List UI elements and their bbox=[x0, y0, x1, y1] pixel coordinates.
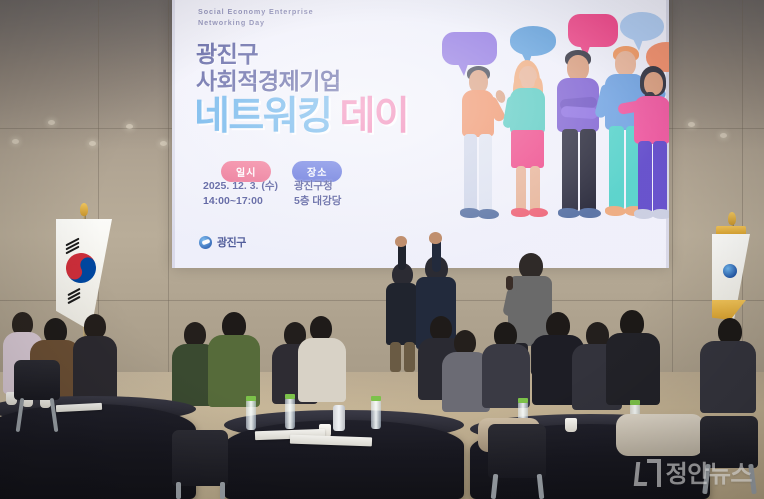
slide-place-info: 광진구청 5층 대강당 bbox=[294, 179, 341, 209]
bottle-cap bbox=[285, 394, 295, 399]
bubble-magenta bbox=[568, 14, 618, 47]
slide-place-line1: 광진구청 bbox=[294, 179, 341, 194]
bottle-cap bbox=[246, 396, 256, 401]
slide-eyebrow: Social Economy Enterprise Networking Day bbox=[198, 6, 314, 28]
water-bottle bbox=[285, 398, 295, 429]
flag-finial bbox=[728, 212, 736, 225]
tumbler bbox=[333, 405, 345, 431]
coat-on-chair bbox=[616, 414, 704, 456]
bubble-purple bbox=[442, 32, 497, 65]
slide-illustration bbox=[440, 4, 668, 262]
ceiling-light-reflection bbox=[160, 141, 167, 146]
ceiling-light-reflection bbox=[48, 120, 55, 125]
water-bottle bbox=[371, 400, 381, 429]
bubble-lightblue bbox=[620, 12, 664, 41]
slide-title-line2: 사회적경제기업 bbox=[196, 62, 341, 96]
water-bottle bbox=[246, 400, 256, 430]
screen-edge bbox=[172, 0, 175, 268]
wall-seam bbox=[168, 0, 169, 380]
ceiling-light-reflection bbox=[89, 141, 96, 146]
paper-cup bbox=[565, 418, 577, 432]
slide-date-line1: 2025. 12. 3. (수) bbox=[203, 179, 278, 194]
flag-finial bbox=[80, 203, 88, 216]
slide-eyebrow-line1: Social Economy Enterprise bbox=[198, 6, 314, 17]
slide-date-info: 2025. 12. 3. (수) 14:00~17:00 bbox=[203, 179, 278, 209]
projection-screen: Social Economy Enterprise Networking Day… bbox=[172, 0, 669, 268]
event-photo: Social Economy Enterprise Networking Day… bbox=[0, 0, 764, 499]
wall-seam bbox=[672, 0, 673, 380]
bottle-cap bbox=[630, 400, 640, 405]
slide-eyebrow-line2: Networking Day bbox=[198, 17, 314, 28]
slide-date-line2: 14:00~17:00 bbox=[203, 194, 278, 209]
ceiling-light-reflection bbox=[12, 139, 19, 144]
bottle-cap bbox=[371, 396, 381, 401]
gwangjin-flag-emblem bbox=[723, 264, 737, 278]
slide-headline-pink: 데이 bbox=[340, 95, 409, 138]
gwangjin-logo-icon bbox=[199, 236, 212, 249]
wall-seam bbox=[742, 0, 743, 380]
flag-fringe-top bbox=[716, 226, 746, 235]
slide-gwangjin-logo: 광진구 bbox=[199, 234, 246, 250]
ceiling-light-reflection bbox=[126, 124, 133, 129]
ceiling-light-reflection bbox=[688, 122, 695, 127]
slide-place-line2: 5층 대강당 bbox=[294, 194, 341, 209]
slide-logo-text: 광진구 bbox=[217, 234, 246, 250]
microphone-icon bbox=[506, 276, 513, 290]
bubble-blue bbox=[510, 26, 556, 56]
wall-seam bbox=[0, 300, 764, 301]
bottle-cap bbox=[518, 398, 528, 403]
slide-headline: 네트워킹데이 bbox=[194, 94, 408, 140]
slide-headline-blue: 네트워킹 bbox=[194, 95, 332, 138]
ceiling-light-reflection bbox=[720, 133, 727, 138]
